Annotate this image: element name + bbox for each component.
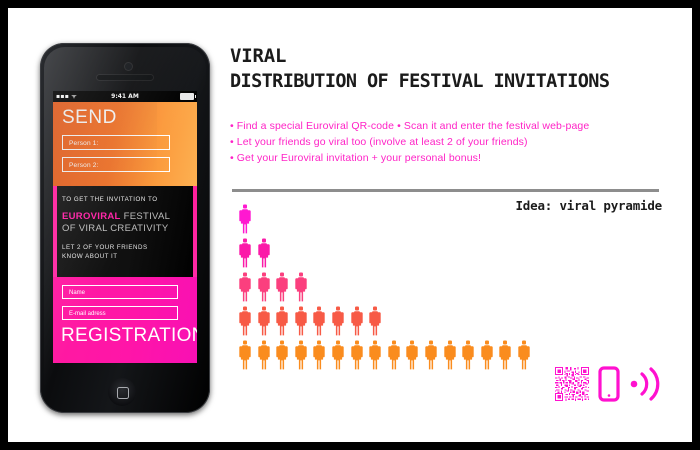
- person-figure-icon: [257, 272, 271, 302]
- front-camera-icon: [125, 63, 132, 70]
- person-figure-icon: [257, 306, 271, 336]
- home-button[interactable]: [108, 378, 136, 406]
- footer-icon-group: [555, 366, 661, 402]
- subtext-line2: KNOW ABOUT IT: [62, 253, 118, 260]
- pyramid-row: [238, 238, 531, 268]
- person-figure-icon: [312, 306, 326, 336]
- send-panel: SEND Person 1: Person 2:: [53, 102, 197, 186]
- person-figure-icon: [238, 340, 252, 370]
- person-figure-icon: [480, 340, 494, 370]
- pyramid-row: [238, 306, 531, 336]
- pyramid-row: [238, 204, 531, 234]
- invitation-pretext: TO GET THE INVITATION TO: [62, 196, 188, 203]
- status-bar: ▪▪▪ ᯤ 9:41 AM: [53, 91, 197, 102]
- person-figure-icon: [350, 306, 364, 336]
- person-figure-icon: [368, 306, 382, 336]
- person-figure-icon: [275, 306, 289, 336]
- person-figure-icon: [498, 340, 512, 370]
- person-figure-icon: [238, 204, 252, 234]
- email-input[interactable]: E-mail adress: [62, 306, 178, 320]
- headline-line-1: VIRAL: [230, 44, 609, 69]
- headline-rest: FESTIVAL: [124, 211, 171, 222]
- earpiece-speaker: [97, 75, 153, 80]
- bullet-item-1: • Find a special Euroviral QR-code • Sca…: [230, 118, 589, 134]
- battery-icon: [180, 91, 194, 102]
- send-title: SEND: [62, 107, 117, 129]
- registration-title: REGISTRATION: [61, 325, 197, 347]
- person-figure-icon: [461, 340, 475, 370]
- headline-line-2: DISTRIBUTION OF FESTIVAL INVITATIONS: [230, 69, 609, 94]
- person-figure-icon: [517, 340, 531, 370]
- person-figure-icon: [387, 340, 401, 370]
- name-input[interactable]: Name: [62, 285, 178, 299]
- person-2-input[interactable]: Person 2:: [62, 157, 170, 172]
- mobile-phone-icon: [598, 366, 620, 402]
- person-figure-icon: [294, 272, 308, 302]
- qr-code-icon: [555, 367, 589, 401]
- content-area: VIRAL DISTRIBUTION OF FESTIVAL INVITATIO…: [230, 8, 678, 442]
- registration-panel: Name E-mail adress REGISTRATION: [53, 277, 197, 363]
- invitation-info-panel: TO GET THE INVITATION TO EUROVIRAL FESTI…: [53, 186, 197, 277]
- person-figure-icon: [312, 340, 326, 370]
- person-1-input[interactable]: Person 1:: [62, 135, 170, 150]
- person-figure-icon: [294, 340, 308, 370]
- person-figure-icon: [275, 272, 289, 302]
- bullet-item-2: • Let your friends go viral too (involve…: [230, 134, 589, 150]
- idea-label: Idea: viral pyramide: [515, 198, 662, 213]
- phone-screen: ▪▪▪ ᯤ 9:41 AM SEND Person 1: Person 2: T…: [53, 91, 197, 363]
- poster-frame: ▪▪▪ ᯤ 9:41 AM SEND Person 1: Person 2: T…: [0, 0, 700, 450]
- bullet-item-3: • Get your Euroviral invitation + your p…: [230, 150, 589, 166]
- person-figure-icon: [238, 306, 252, 336]
- signal-waves-icon: [629, 366, 661, 402]
- smartphone-mockup: ▪▪▪ ᯤ 9:41 AM SEND Person 1: Person 2: T…: [40, 43, 210, 413]
- person-figure-icon: [275, 340, 289, 370]
- page-title: VIRAL DISTRIBUTION OF FESTIVAL INVITATIO…: [230, 44, 609, 94]
- pyramid-row: [238, 340, 531, 370]
- headline-line2: OF VIRAL CREATIVITY: [62, 223, 169, 234]
- person-figure-icon: [350, 340, 364, 370]
- bullet-list: • Find a special Euroviral QR-code • Sca…: [230, 118, 589, 166]
- person-figure-icon: [331, 340, 345, 370]
- person-figure-icon: [257, 340, 271, 370]
- person-figure-icon: [405, 340, 419, 370]
- person-figure-icon: [238, 238, 252, 268]
- person-figure-icon: [257, 238, 271, 268]
- person-figure-icon: [443, 340, 457, 370]
- person-figure-icon: [424, 340, 438, 370]
- subtext-line1: LET 2 OF YOUR FRIENDS: [62, 244, 148, 251]
- status-time: 9:41 AM: [53, 91, 197, 102]
- person-figure-icon: [368, 340, 382, 370]
- person-figure-icon: [238, 272, 252, 302]
- horizontal-divider: [232, 189, 659, 192]
- invitation-headline: EUROVIRAL FESTIVAL OF VIRAL CREATIVITY: [62, 211, 188, 234]
- person-figure-icon: [294, 306, 308, 336]
- person-figure-icon: [331, 306, 345, 336]
- viral-pyramid-chart: [238, 204, 531, 370]
- invitation-subtext: LET 2 OF YOUR FRIENDS KNOW ABOUT IT: [62, 243, 188, 261]
- brand-name: EUROVIRAL: [62, 211, 121, 222]
- poster-canvas: ▪▪▪ ᯤ 9:41 AM SEND Person 1: Person 2: T…: [8, 8, 692, 442]
- pyramid-row: [238, 272, 531, 302]
